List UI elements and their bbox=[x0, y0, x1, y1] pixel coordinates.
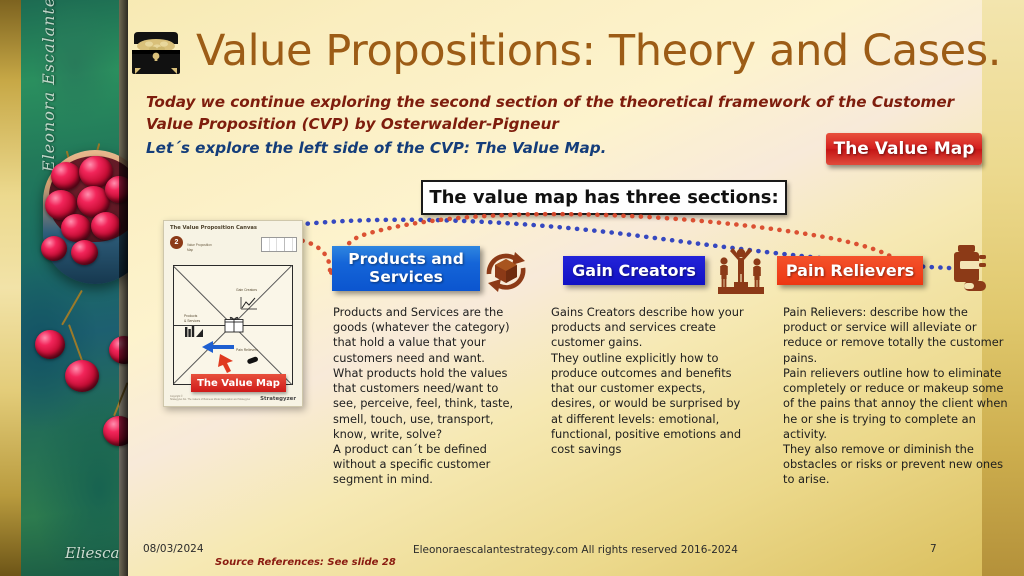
value-proposition-canvas-thumbnail[interactable]: The Value Proposition Canvas 2 Value Pro… bbox=[163, 220, 303, 407]
canvas-label-products: Products & Services bbox=[184, 314, 200, 323]
subtitle-line-1: Today we continue exploring the second s… bbox=[146, 93, 954, 133]
page-title: Value Propositions: Theory and Cases. bbox=[196, 26, 1001, 76]
value-map-badge[interactable]: The Value Map bbox=[826, 133, 982, 165]
medicine-bottle-icon bbox=[948, 243, 994, 300]
footer-copyright: Eleonoraescalantestrategy.com All rights… bbox=[413, 544, 738, 556]
canvas-red-arrow bbox=[218, 352, 238, 374]
cherries-painting: Eleonora Escalante Eliesca bbox=[21, 0, 119, 576]
canvas-fine-print: Copyright © Strategyzer AG. The makers o… bbox=[170, 395, 250, 402]
strip-shadow bbox=[119, 0, 128, 576]
bars-icon bbox=[185, 324, 205, 337]
slide-canvas: Eleonora Escalante Eliesca bbox=[0, 0, 1024, 576]
footer-page-number: 7 bbox=[930, 543, 937, 555]
pill-icon bbox=[246, 355, 260, 365]
canvas-thumb-title: The Value Proposition Canvas bbox=[170, 225, 257, 231]
box-refresh-icon bbox=[477, 242, 535, 303]
canvas-grid-icon bbox=[261, 237, 297, 252]
section-body-gain-creators: Gains Creators describe how your product… bbox=[551, 305, 753, 457]
artist-signature-top: Eleonora Escalante bbox=[39, 22, 128, 172]
canvas-label-pains: Pain Relievers bbox=[236, 348, 258, 353]
strategyzer-brand: Strategyzer bbox=[260, 396, 296, 402]
canvas-value-map-tag: The Value Map bbox=[191, 374, 286, 392]
section-banner: The value map has three sections: bbox=[421, 180, 787, 215]
canvas-step-number: 2 bbox=[170, 236, 183, 249]
gift-box-icon bbox=[224, 316, 244, 333]
chart-icon bbox=[240, 296, 258, 310]
winners-podium-icon bbox=[712, 246, 770, 303]
decorative-artwork-strip: Eleonora Escalante Eliesca bbox=[0, 0, 128, 576]
footer-source-reference: Source References: See slide 28 bbox=[215, 557, 396, 568]
section-label-gain-creators[interactable]: Gain Creators bbox=[563, 256, 705, 285]
canvas-field-label: Value Proposition Map bbox=[187, 243, 212, 253]
canvas-label-gain: Gain Creators bbox=[236, 288, 257, 293]
section-label-products-and-services[interactable]: Products and Services bbox=[332, 246, 480, 291]
section-label-pain-relievers[interactable]: Pain Relievers bbox=[777, 256, 923, 285]
footer-date: 08/03/2024 bbox=[143, 543, 204, 555]
canvas-value-map-square: Gain Creators Products & Services Pain R… bbox=[173, 265, 293, 385]
treasure-chest-icon bbox=[129, 28, 183, 78]
section-body-pain-relievers: Pain Relievers: describe how the product… bbox=[783, 305, 1011, 488]
artist-signature-bottom: Eliesca bbox=[65, 544, 119, 562]
section-body-products-and-services: Products and Services are the goods (wha… bbox=[333, 305, 525, 488]
